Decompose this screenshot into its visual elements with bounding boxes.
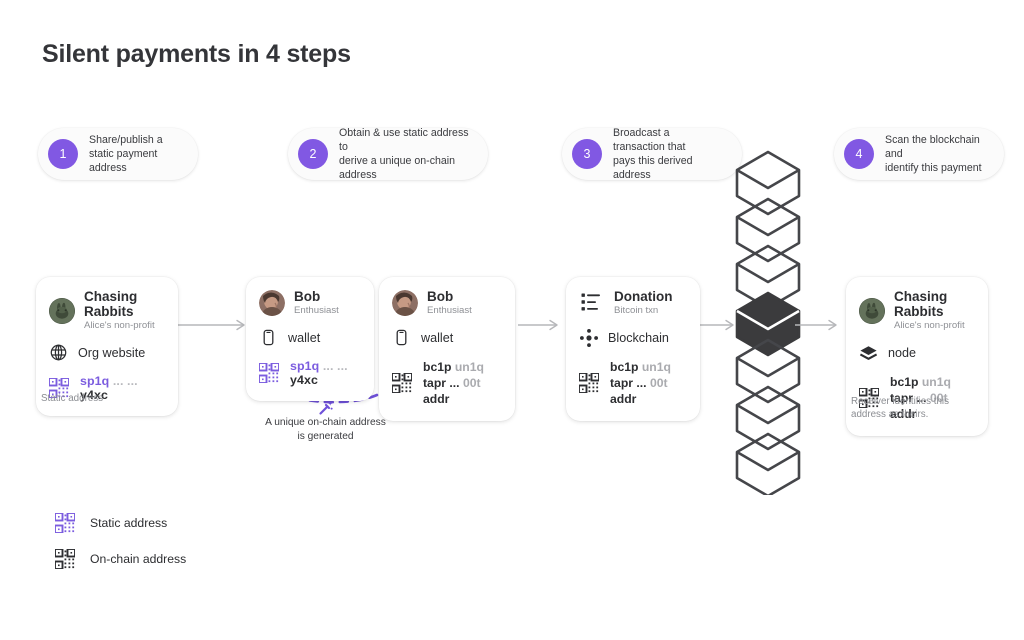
address-middle: ... ... (113, 374, 138, 388)
card-caption-static-address: Static address (41, 392, 191, 405)
card-detail-label: Blockchain (608, 331, 669, 345)
blockchain-column (733, 150, 803, 495)
address-line2-b: 00t (463, 376, 481, 390)
card-title: Chasing Rabbits (894, 289, 974, 319)
card-detail-row[interactable]: Blockchain (579, 328, 686, 347)
address-line1-a: bc1p (610, 360, 638, 374)
card-title: Bob (294, 289, 339, 304)
phone-icon (392, 328, 411, 347)
onchain-address-qr-icon (579, 373, 599, 393)
connector-arrow-1 (175, 318, 253, 332)
card-subtitle: Alice's non-profit (894, 320, 974, 332)
step-label-2: Obtain & use static address to derive a … (339, 126, 470, 182)
card-address-text: bc1p un1q tapr ... 00t addr (610, 359, 686, 407)
card-detail-label: wallet (288, 331, 320, 345)
card-detail-row[interactable]: wallet (392, 328, 501, 347)
address-line1-a: bc1p (423, 360, 451, 374)
legend-item-onchain-address: On-chain address (55, 549, 186, 569)
card-bob-derive[interactable]: Bob Enthusiast wallet (379, 277, 515, 421)
address-line2-c: addr (610, 392, 636, 406)
step-label-4: Scan the blockchain and identify this pa… (885, 133, 986, 175)
bob-avatar (392, 290, 418, 316)
block-7 (737, 434, 799, 495)
address-prefix: sp1q (80, 374, 109, 388)
step-number-1: 1 (48, 139, 78, 169)
card-header: Chasing Rabbits Alice's non-profit (49, 289, 164, 332)
globe-icon (49, 343, 68, 362)
step-label-3: Broadcast a transaction that pays this d… (613, 126, 724, 182)
card-subtitle: Enthusiast (294, 305, 339, 317)
card-address-text: sp1q ... ... y4xc (290, 359, 360, 387)
card-detail-label: Org website (78, 346, 145, 360)
card-address-row[interactable]: sp1q ... ... y4xc (259, 359, 360, 387)
address-middle: ... ... (323, 359, 348, 373)
card-header: Donation Bitcoin txn (579, 289, 686, 317)
card-address-text: bc1p un1q tapr ... 00t addr (423, 359, 501, 407)
card-title: Chasing Rabbits (84, 289, 164, 319)
phone-icon (259, 328, 278, 347)
step-number-3: 3 (572, 139, 602, 169)
magic-wand-icon (318, 400, 334, 416)
step-number-2: 2 (298, 139, 328, 169)
card-detail-label: wallet (421, 331, 453, 345)
card-subtitle: Enthusiast (427, 305, 472, 317)
address-line1-b: un1q (455, 360, 484, 374)
card-subtitle: Alice's non-profit (84, 320, 164, 332)
address-line2-a: tapr ... (610, 376, 647, 390)
card-detail-label: node (888, 346, 916, 360)
page-title: Silent payments in 4 steps (42, 40, 351, 69)
card-caption-receiver: Receiver identifies this address as thei… (851, 395, 1011, 421)
card-detail-row[interactable]: wallet (259, 328, 360, 347)
rabbit-avatar (859, 298, 885, 324)
step-pill-1[interactable]: 1 Share/publish a static payment address (38, 128, 198, 180)
legend-item-static-address: Static address (55, 513, 167, 533)
address-line2-b: 00t (650, 376, 668, 390)
block-1 (737, 152, 799, 214)
card-header: Bob Enthusiast (392, 289, 501, 317)
card-title: Bob (427, 289, 472, 304)
card-header: Chasing Rabbits Alice's non-profit (859, 289, 974, 332)
step-pill-2[interactable]: 2 Obtain & use static address to derive … (288, 128, 488, 180)
onchain-address-qr-icon (392, 373, 412, 393)
card-detail-row[interactable]: Org website (49, 343, 164, 362)
address-line2-c: addr (423, 392, 449, 406)
connector-arrow-2 (518, 318, 566, 332)
block-6 (737, 387, 799, 449)
diagram-canvas: Silent payments in 4 steps 1 Share/publi… (0, 0, 1024, 640)
onchain-address-qr-icon (55, 549, 75, 569)
address-line1-b: un1q (642, 360, 671, 374)
blockchain-node-icon (579, 328, 598, 347)
rabbit-avatar (49, 298, 75, 324)
connector-arrow-3 (700, 318, 742, 332)
address-line1-b: un1q (922, 375, 951, 389)
legend-label: On-chain address (90, 552, 186, 566)
transaction-list-icon (579, 290, 605, 316)
address-line2-a: tapr ... (423, 376, 460, 390)
card-address-row[interactable]: bc1p un1q tapr ... 00t addr (392, 359, 501, 407)
address-suffix: y4xc (290, 373, 318, 387)
card-donation-txn[interactable]: Donation Bitcoin txn Blockchain (566, 277, 700, 421)
card-bob-obtain[interactable]: Bob Enthusiast wallet (246, 277, 374, 401)
bob-avatar (259, 290, 285, 316)
step-pill-4[interactable]: 4 Scan the blockchain and identify this … (834, 128, 1004, 180)
connector-arrow-4 (795, 318, 845, 332)
step-pill-3[interactable]: 3 Broadcast a transaction that pays this… (562, 128, 742, 180)
card-title: Donation (614, 289, 673, 304)
static-address-qr-icon (55, 513, 75, 533)
derive-caption: A unique on-chain address is generated (258, 416, 393, 444)
card-address-row[interactable]: bc1p un1q tapr ... 00t addr (579, 359, 686, 407)
step-label-1: Share/publish a static payment address (89, 133, 180, 175)
address-line1-a: bc1p (890, 375, 918, 389)
node-layers-icon (859, 343, 878, 362)
static-address-qr-icon (259, 363, 279, 383)
block-2 (737, 199, 799, 261)
address-prefix: sp1q (290, 359, 319, 373)
legend-label: Static address (90, 516, 167, 530)
card-subtitle: Bitcoin txn (614, 305, 673, 317)
step-number-4: 4 (844, 139, 874, 169)
block-4-highlighted (737, 293, 799, 355)
card-detail-row[interactable]: node (859, 343, 974, 362)
card-header: Bob Enthusiast (259, 289, 360, 317)
